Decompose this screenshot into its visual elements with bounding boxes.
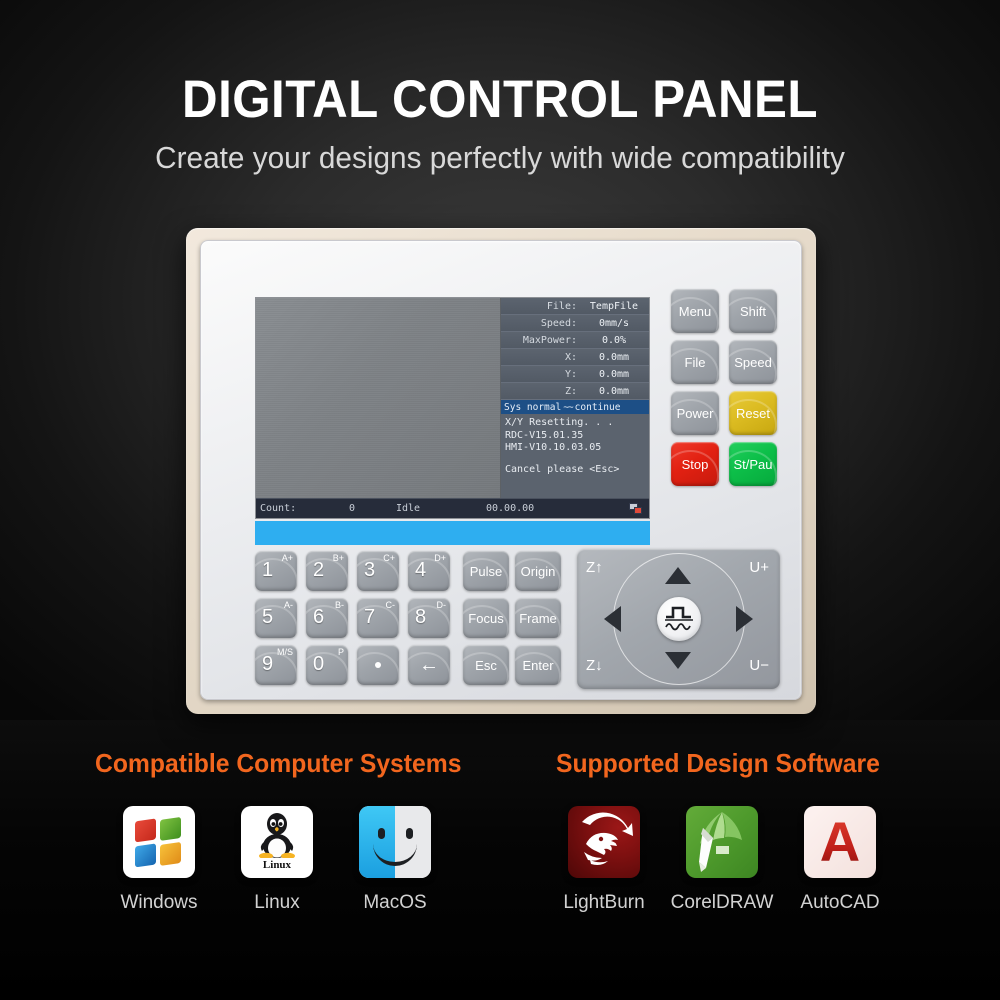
info-value: 0.0mm [583,369,645,380]
windows-logo-icon [123,806,195,878]
key-digit: 1 [262,559,273,582]
linux-wordmark: Linux [241,859,313,871]
info-label: Z: [503,386,583,397]
origin-button[interactable]: Origin [515,551,561,591]
elapsed-time: 00.00.00 [472,503,629,514]
z-down-label: Z [586,657,595,674]
windows-flag-shape [135,815,183,870]
software-item-coreldraw[interactable]: CorelDRAW [663,806,781,914]
software-label: LightBurn [545,892,663,914]
lcd-screen: File: TempFile Speed: 0mm/s MaxPower: 0.… [255,297,650,519]
autocad-letter: A [820,814,860,870]
speed-button[interactable]: Speed [729,340,777,384]
file-button[interactable]: File [671,340,719,384]
frame-button[interactable]: Frame [515,598,561,638]
info-label: X: [503,352,583,363]
coreldraw-balloon-icon [686,806,758,878]
key-digit: 4 [415,559,426,582]
u-plus-button[interactable]: U+ [749,559,769,576]
software-logo-row: LightBurn CorelDRAW A AutoCAD [545,806,899,914]
linux-logo-icon: Linux [241,806,313,878]
reset-button[interactable]: Reset [729,391,777,435]
arrow-down-button[interactable] [665,652,691,669]
start-pause-button[interactable]: St/Pau [729,442,777,486]
lcd-work-canvas[interactable] [256,298,501,498]
key-superscript: A+ [282,553,293,563]
key-superscript: B- [335,600,344,610]
info-value: 0.0% [583,335,645,346]
focus-button[interactable]: Focus [463,598,509,638]
shift-button[interactable]: Shift [729,289,777,333]
message-line: RDC-V15.01.35 [505,430,646,443]
section-heading-systems: Compatible Computer Systems [95,748,461,779]
key-2[interactable]: 2 B+ [306,551,348,591]
key-superscript: M/S [277,647,293,657]
operation-key-block: Pulse Origin Focus Frame Esc Enter [463,551,563,686]
key-digit: 7 [364,606,375,629]
pulse-button[interactable]: Pulse [463,551,509,591]
u-minus-button[interactable]: U− [749,657,769,674]
key-4[interactable]: 4 D+ [408,551,450,591]
key-digit: 5 [262,606,273,629]
lcd-status-bar: Count: 0 Idle 00.00.00 [256,498,649,518]
info-label: Speed: [503,318,583,329]
arrow-up-button[interactable] [665,567,691,584]
system-status-bar: Sys normal ∼∼ continue [501,400,649,414]
direction-pad: Z↑ Z↓ U+ U− [577,549,780,689]
key-6[interactable]: 6 B- [306,598,348,638]
info-label: Y: [503,369,583,380]
key-digit: 3 [364,559,375,582]
key-superscript: B+ [333,553,344,563]
info-value: 0mm/s [583,318,645,329]
key-digit: 2 [313,559,324,582]
z-up-label: Z [586,559,595,576]
z-down-button[interactable]: Z↓ [586,657,603,674]
numeric-keypad: 1 A+ 2 B+ 3 C+ 4 D+ 5 A- 6 B- 7 C- 8 [255,551,450,686]
menu-button[interactable]: Menu [671,289,719,333]
spacer [505,455,646,464]
os-logo-row: Windows Linux [100,806,454,914]
key-superscript: A- [284,600,293,610]
key-decimal-point[interactable] [357,645,399,685]
stop-button[interactable]: Stop [671,442,719,486]
arrow-right-button[interactable] [736,606,753,632]
os-label: Linux [218,892,336,914]
info-row-maxpower: MaxPower: 0.0% [501,332,649,349]
z-down-arrow-icon: ↓ [595,657,603,674]
os-label: Windows [100,892,218,914]
key-digit: 9 [262,653,273,676]
autocad-a-icon: A [804,806,876,878]
message-line: HMI-V10.10.03.05 [505,442,646,455]
key-superscript: D+ [434,553,446,563]
os-item-linux[interactable]: Linux Linux [218,806,336,914]
software-label: AutoCAD [781,892,899,914]
control-panel-device: File: TempFile Speed: 0mm/s MaxPower: 0.… [186,228,816,714]
info-row-y: Y: 0.0mm [501,366,649,383]
key-5[interactable]: 5 A- [255,598,297,638]
tux-penguin-icon [257,812,297,858]
z-up-button[interactable]: Z↑ [586,559,603,576]
dot-icon [375,662,381,668]
info-row-file: File: TempFile [501,298,649,315]
count-label: Count: [260,503,322,514]
info-row-x: X: 0.0mm [501,349,649,366]
lcd-info-column: File: TempFile Speed: 0mm/s MaxPower: 0.… [501,298,649,498]
key-superscript: D- [437,600,447,610]
key-8[interactable]: 8 D- [408,598,450,638]
machine-state: Idle [382,503,472,514]
device-face-plate: File: TempFile Speed: 0mm/s MaxPower: 0.… [200,240,802,700]
balloon-pen-shape [686,806,758,878]
page-title: DIGITAL CONTROL PANEL [35,72,965,128]
count-value: 0 [322,503,382,514]
info-value: 0.0mm [583,352,645,363]
key-3[interactable]: 3 C+ [357,551,399,591]
info-value: TempFile [583,301,645,312]
message-prompt: Cancel please <Esc> [505,464,646,477]
function-key-block: Menu Shift File Speed Power Reset Stop S… [671,289,781,519]
info-row-z: Z: 0.0mm [501,383,649,400]
arrow-left-button[interactable] [604,606,621,632]
key-1[interactable]: 1 A+ [255,551,297,591]
info-label: MaxPower: [503,335,583,346]
key-backspace[interactable]: ← [408,645,450,685]
center-pulse-button[interactable] [657,597,701,641]
key-superscript: P [338,647,344,657]
power-button[interactable]: Power [671,391,719,435]
lightburn-dragon-icon [568,806,640,878]
os-item-macos[interactable]: MacOS [336,806,454,914]
lcd-body: File: TempFile Speed: 0mm/s MaxPower: 0.… [256,298,649,498]
backspace-arrow-icon: ← [419,655,439,675]
page-subtitle: Create your designs perfectly with wide … [20,140,980,176]
dragon-shape [568,806,640,878]
sys-status-suffix: continue [575,402,621,413]
software-item-lightburn[interactable]: LightBurn [545,806,663,914]
header: DIGITAL CONTROL PANEL Create your design… [0,72,1000,176]
key-digit: 0 [313,653,324,676]
os-label: MacOS [336,892,454,914]
lcd-message-area: X/Y Resetting. . . RDC-V15.01.35 HMI-V10… [501,414,649,498]
wave-icon: ∼∼ [563,402,572,413]
network-status-icon [629,503,643,515]
info-label: File: [503,301,583,312]
software-item-autocad[interactable]: A AutoCAD [781,806,899,914]
macos-finder-icon [359,806,431,878]
key-digit: 6 [313,606,324,629]
message-line: X/Y Resetting. . . [505,417,646,430]
key-9[interactable]: 9 M/S [255,645,297,685]
info-value: 0.0mm [583,386,645,397]
key-superscript: C+ [383,553,395,563]
section-heading-software: Supported Design Software [556,748,880,779]
enter-button[interactable]: Enter [515,645,561,685]
key-0[interactable]: 0 P [306,645,348,685]
os-item-windows[interactable]: Windows [100,806,218,914]
sys-status-text: Sys normal [504,402,561,413]
key-superscript: C- [386,600,396,610]
info-row-speed: Speed: 0mm/s [501,315,649,332]
cyan-accent-strip [255,521,650,545]
pulse-waveform-icon [664,606,694,632]
esc-button[interactable]: Esc [463,645,509,685]
z-up-arrow-icon: ↑ [595,559,603,576]
key-digit: 8 [415,606,426,629]
key-7[interactable]: 7 C- [357,598,399,638]
software-label: CorelDRAW [663,892,781,914]
